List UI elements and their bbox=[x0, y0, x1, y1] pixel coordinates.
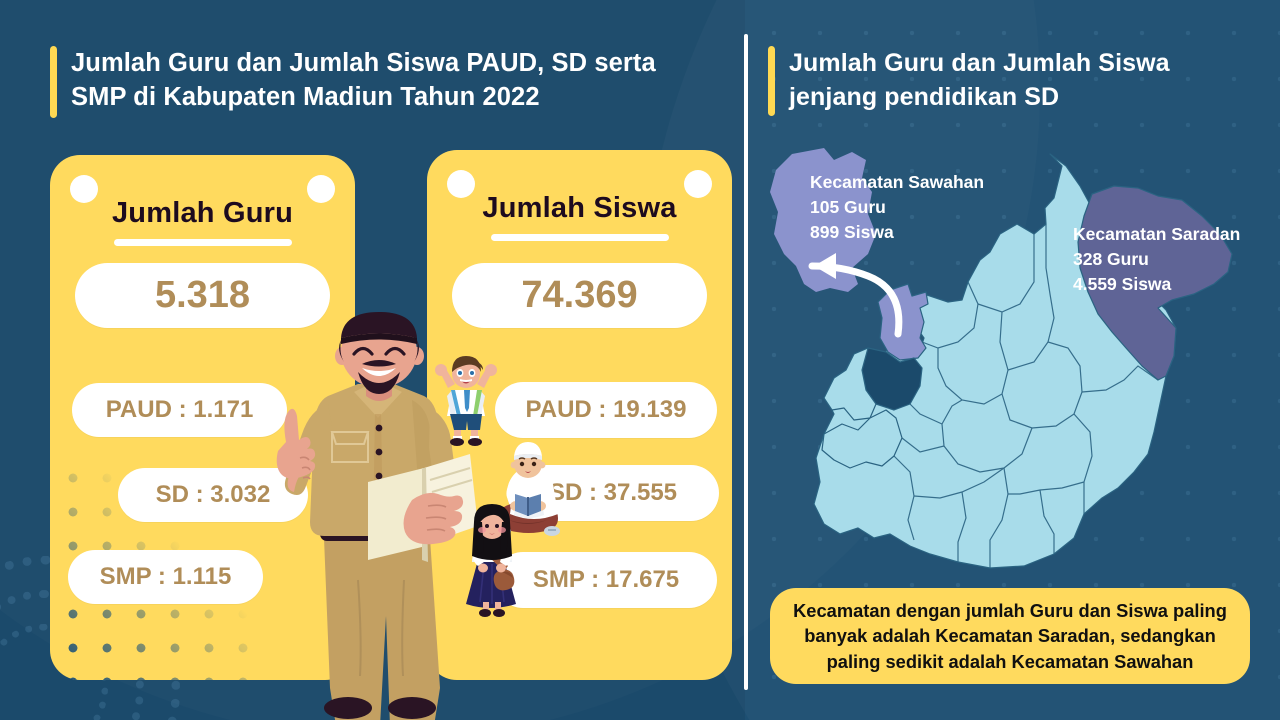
left-panel-title-text: Jumlah Guru dan Jumlah Siswa PAUD, SD se… bbox=[71, 46, 710, 114]
sawahan-name: Kecamatan Sawahan bbox=[810, 170, 1050, 195]
left-panel-title: Jumlah Guru dan Jumlah Siswa PAUD, SD se… bbox=[50, 46, 710, 118]
saradan-siswa: 4.559 Siswa bbox=[1073, 272, 1280, 297]
right-panel-title-text: Jumlah Guru dan Jumlah Siswa jenjang pen… bbox=[789, 46, 1238, 114]
siswa-paud-value: PAUD : 19.139 bbox=[495, 382, 717, 438]
map-caption-box: Kecamatan dengan jumlah Guru dan Siswa p… bbox=[770, 588, 1250, 684]
card-heading-underline bbox=[491, 234, 669, 241]
student-girl-illustration bbox=[452, 502, 532, 620]
card-heading-underline bbox=[114, 239, 292, 246]
guru-paud-value: PAUD : 1.171 bbox=[72, 383, 287, 437]
saradan-name: Kecamatan Saradan bbox=[1073, 222, 1280, 247]
sawahan-callout-arrow-icon bbox=[780, 230, 920, 340]
student-boy-cheering-illustration bbox=[430, 352, 502, 446]
card-heading-guru: Jumlah Guru bbox=[50, 197, 355, 230]
panel-divider bbox=[744, 34, 748, 690]
guru-smp-value: SMP : 1.115 bbox=[68, 550, 263, 604]
right-panel-title: Jumlah Guru dan Jumlah Siswa jenjang pen… bbox=[768, 46, 1238, 116]
title-accent-bar bbox=[768, 46, 775, 116]
map-caption-text: Kecamatan dengan jumlah Guru dan Siswa p… bbox=[786, 598, 1234, 675]
infographic-canvas: Jumlah Guru dan Jumlah Siswa PAUD, SD se… bbox=[0, 0, 1280, 720]
sawahan-guru: 105 Guru bbox=[810, 195, 1050, 220]
card-heading-siswa: Jumlah Siswa bbox=[427, 192, 732, 225]
title-accent-bar bbox=[50, 46, 57, 118]
saradan-guru: 328 Guru bbox=[1073, 247, 1280, 272]
map-label-saradan: Kecamatan Saradan 328 Guru 4.559 Siswa bbox=[1073, 222, 1280, 297]
